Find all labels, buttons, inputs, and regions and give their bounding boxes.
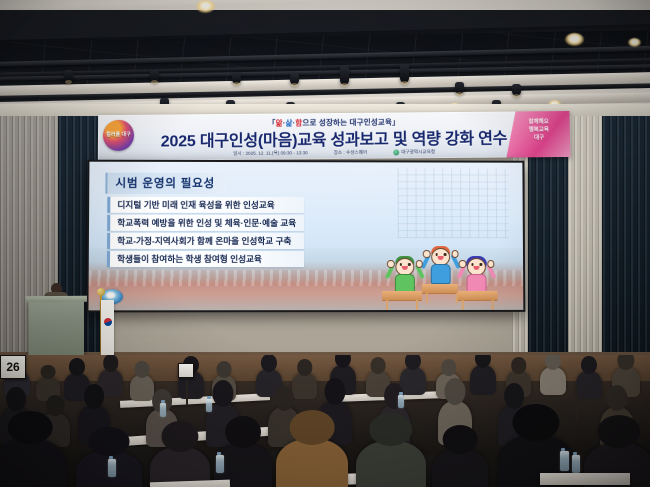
projection-screen: 시범 운영의 필요성 디지털 기반 미래 인재 육성을 위한 인성교육 학교폭력… <box>88 162 523 311</box>
curtain-cream-right <box>568 116 606 368</box>
student-figure-right <box>460 254 494 294</box>
banner-place: 장소 : 수성스퀘어 <box>334 150 368 156</box>
audience-person <box>540 367 566 395</box>
audience-person <box>292 373 317 399</box>
slide-bullet: 디지털 기반 미래 인재 육성을 위한 인성교육 <box>107 197 304 213</box>
audience-person <box>576 371 602 399</box>
slide-bullet: 학교-가정-지역사회가 함께 온마을 인성학교 구축 <box>107 233 304 249</box>
student-hand <box>415 260 422 267</box>
table-number-pole <box>576 385 578 419</box>
student-figure-center <box>424 244 458 284</box>
water-bottle-icon <box>398 395 404 408</box>
audience-person <box>400 367 426 395</box>
student-hand <box>459 260 466 267</box>
spotlight-icon <box>340 66 349 85</box>
audience-person-front <box>0 439 66 487</box>
student-hand <box>451 250 458 257</box>
water-bottle-icon <box>206 399 212 412</box>
audience-person-front <box>276 439 348 487</box>
ceiling <box>0 0 650 118</box>
education-office-emblem-icon <box>393 149 399 155</box>
audience-person <box>470 365 496 395</box>
student-desk <box>382 291 422 300</box>
student-desk <box>422 284 458 293</box>
table-number-sign-small <box>178 363 194 378</box>
spotlight-icon <box>150 70 159 82</box>
downlight-icon <box>196 0 215 13</box>
downlight-icon <box>628 38 641 47</box>
student-hand <box>487 260 494 267</box>
audience-person-front <box>356 441 426 487</box>
table-number-sign: 26 <box>0 355 26 379</box>
projection-screen-frame: 시범 운영의 필요성 디지털 기반 미래 인재 육성을 위한 인성교육 학교폭력… <box>86 160 525 313</box>
student-eye <box>480 263 482 266</box>
water-bottle-icon <box>216 455 224 473</box>
spotlight-icon <box>400 64 409 83</box>
student-face <box>399 263 411 269</box>
spotlight-icon <box>290 73 299 85</box>
audience-person-front <box>432 449 488 487</box>
slide-bullet-list: 디지털 기반 미래 인재 육성을 위한 인성교육 학교폭력 예방을 위한 인성 … <box>107 197 304 267</box>
spotlight-icon <box>64 70 73 82</box>
downlight-icon <box>565 33 584 46</box>
water-bottle-icon <box>160 403 166 417</box>
students-illustration <box>378 236 508 306</box>
banner-datetime: 일시 : 2025. 12. 11.(목) 09:30 - 13:30 <box>233 150 308 157</box>
spotlight-icon <box>232 72 241 84</box>
student-hand <box>423 250 430 257</box>
banner-organizer: 대구광역시교육청 <box>401 149 435 155</box>
audience-area: 26 <box>0 355 650 487</box>
korean-flag-icon <box>101 300 114 356</box>
spotlight-icon <box>512 84 521 96</box>
audience-table-front <box>540 473 630 485</box>
slide-background-building <box>398 168 509 238</box>
water-bottle-icon <box>560 451 569 471</box>
slide-bullet: 학교폭력 예방을 위한 인성 및 체육·인문·예술 교육 <box>107 215 304 231</box>
student-body <box>431 264 451 284</box>
podium <box>28 300 84 362</box>
student-eye <box>444 253 446 256</box>
audience-person <box>130 375 154 401</box>
event-banner: 함께해요 행복교육 대구 컬러풀 대구 「앎·삶·함으로 성장하는 대구인성교육… <box>98 111 571 161</box>
curtain-navy-far-right <box>602 116 650 368</box>
slide-bullet: 학생들이 참여하는 학생 참여형 인성교육 <box>107 251 304 267</box>
banner-organizer-group: 대구광역시교육청 <box>393 149 435 155</box>
water-bottle-icon <box>572 455 580 473</box>
spotlight-icon <box>455 82 464 94</box>
student-eye <box>408 263 410 266</box>
flag-finial-icon <box>97 288 105 296</box>
student-figure-left <box>388 254 422 294</box>
conference-hall-photo: 함께해요 행복교육 대구 컬러풀 대구 「앎·삶·함으로 성장하는 대구인성교육… <box>0 0 650 487</box>
podium-top <box>25 296 87 302</box>
slide-heading: 시범 운영의 필요성 <box>105 173 225 194</box>
student-face <box>435 253 447 259</box>
student-hand <box>387 260 394 267</box>
student-face <box>470 263 482 269</box>
water-bottle-icon <box>108 459 116 477</box>
student-desk <box>458 291 498 300</box>
